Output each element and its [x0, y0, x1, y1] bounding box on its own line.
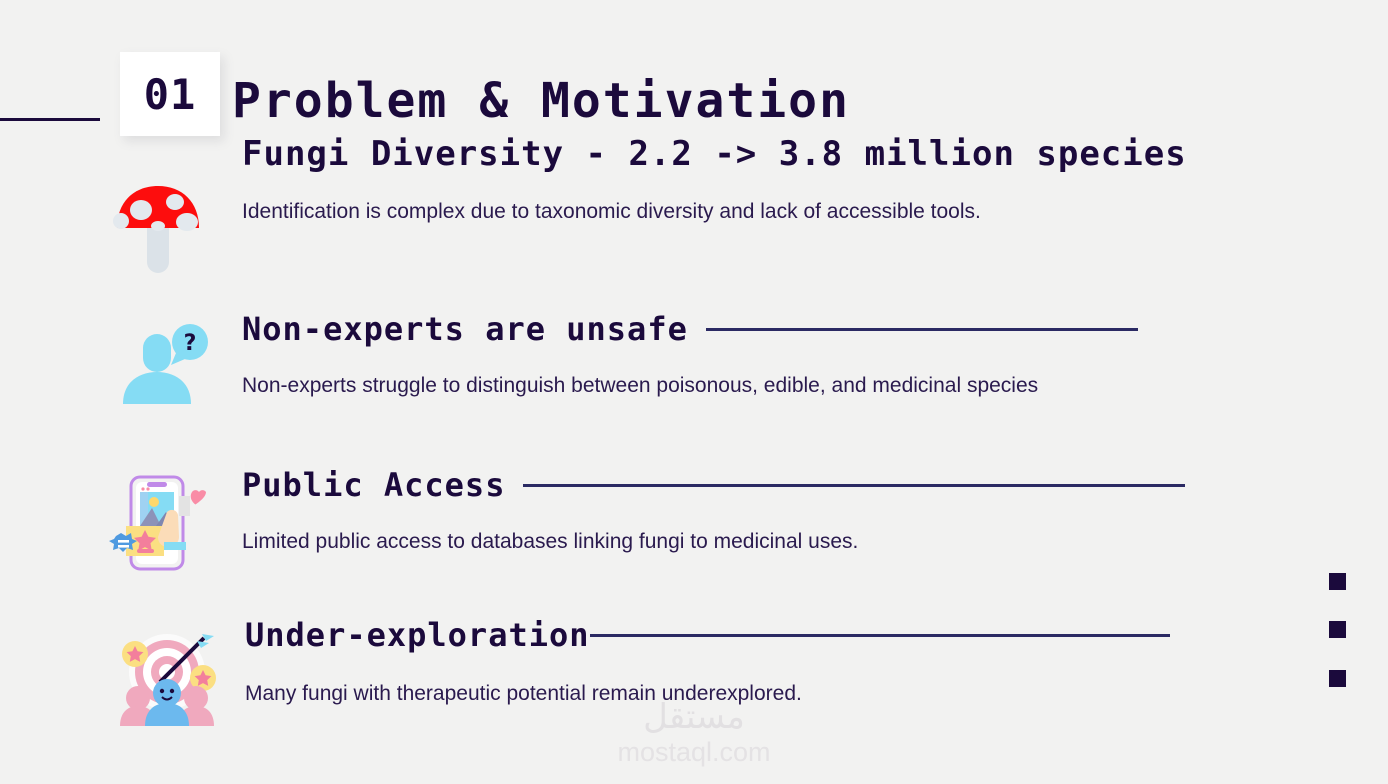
section-number-label: 01: [144, 70, 197, 119]
block-heading: Under-exploration: [245, 616, 590, 654]
heading-rule: [523, 484, 1185, 487]
block-heading: Fungi Diversity - 2.2 -> 3.8 million spe…: [242, 130, 1242, 178]
block-body-text: Non-experts struggle to distinguish betw…: [242, 374, 1242, 398]
decor-square: [1329, 670, 1346, 687]
content-block-public-access: Public Access Limited public access to d…: [242, 466, 1242, 554]
target-people-icon: [112, 622, 222, 732]
person-question-icon: ?: [113, 320, 223, 430]
block-heading-row: Public Access: [242, 466, 1242, 504]
heading-rule: [706, 328, 1138, 331]
block-body-text: Identification is complex due to taxonom…: [242, 200, 1242, 224]
content-block-under-exploration: Under-exploration Many fungi with therap…: [245, 616, 1245, 706]
watermark-latin: mostaql.com: [0, 736, 1388, 768]
block-body-text: Many fungi with therapeutic potential re…: [245, 682, 1245, 706]
content-block-non-experts: Non-experts are unsafe Non-experts strug…: [242, 310, 1242, 398]
decor-square: [1329, 573, 1346, 590]
slide-canvas: 01 Problem & Motivation Fungi Diversity …: [0, 0, 1388, 784]
section-number-badge: 01: [120, 52, 220, 136]
block-heading: Non-experts are unsafe: [242, 310, 688, 348]
block-heading-row: Under-exploration: [245, 616, 1245, 654]
block-heading: Public Access: [242, 466, 505, 504]
content-block-fungi-diversity: Fungi Diversity - 2.2 -> 3.8 million spe…: [242, 130, 1242, 224]
decor-square: [1329, 621, 1346, 638]
mushroom-icon: [103, 172, 213, 282]
page-title: Problem & Motivation: [232, 70, 850, 132]
svg-text:?: ?: [184, 331, 197, 356]
mobile-app-icon: [108, 468, 218, 578]
block-body-text: Limited public access to databases linki…: [242, 530, 1242, 554]
header-accent-rule: [0, 118, 100, 121]
block-heading-row: Non-experts are unsafe: [242, 310, 1242, 348]
heading-rule: [590, 634, 1170, 637]
